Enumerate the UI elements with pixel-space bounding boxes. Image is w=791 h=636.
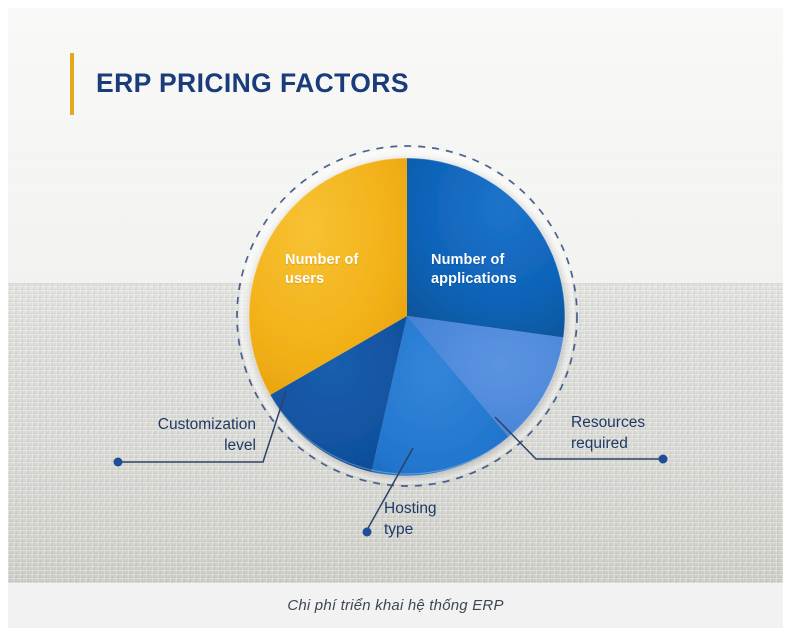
callout-label-resources-required: Resources required bbox=[571, 413, 721, 454]
callout-label-resources-required-line2: required bbox=[571, 435, 628, 452]
callout-label-hosting-type-line1: Hosting bbox=[384, 500, 437, 517]
slice-label-number-of-users: Number of users bbox=[285, 251, 393, 288]
slice-label-number-of-applications: Number of applications bbox=[431, 251, 551, 288]
callout-label-resources-required-line1: Resources bbox=[571, 414, 645, 431]
chart-image: ERP PRICING FACTORS bbox=[8, 8, 783, 583]
slice-label-number-of-users-line2: users bbox=[285, 271, 324, 287]
callout-label-customization-level-line1: Customization bbox=[158, 416, 256, 433]
title-block: ERP PRICING FACTORS bbox=[70, 53, 409, 115]
figure-caption: Chi phí triển khai hệ thống ERP bbox=[287, 597, 503, 614]
callout-label-customization-level-line2: level bbox=[224, 437, 256, 454]
figure-caption-bar: Chi phí triển khai hệ thống ERP bbox=[8, 583, 783, 628]
slice-label-number-of-users-line1: Number of bbox=[285, 252, 358, 268]
slice-label-number-of-applications-line1: Number of bbox=[431, 252, 504, 268]
title-accent-bar bbox=[70, 53, 74, 115]
callout-label-hosting-type: Hosting type bbox=[384, 499, 494, 540]
figure-container: ERP PRICING FACTORS bbox=[0, 0, 791, 636]
page-title: ERP PRICING FACTORS bbox=[96, 68, 409, 101]
slice-label-number-of-applications-line2: applications bbox=[431, 271, 517, 287]
background-upper bbox=[8, 8, 783, 283]
callout-label-hosting-type-line2: type bbox=[384, 521, 413, 538]
background-seam bbox=[8, 282, 783, 284]
callout-label-customization-level: Customization level bbox=[116, 415, 256, 456]
